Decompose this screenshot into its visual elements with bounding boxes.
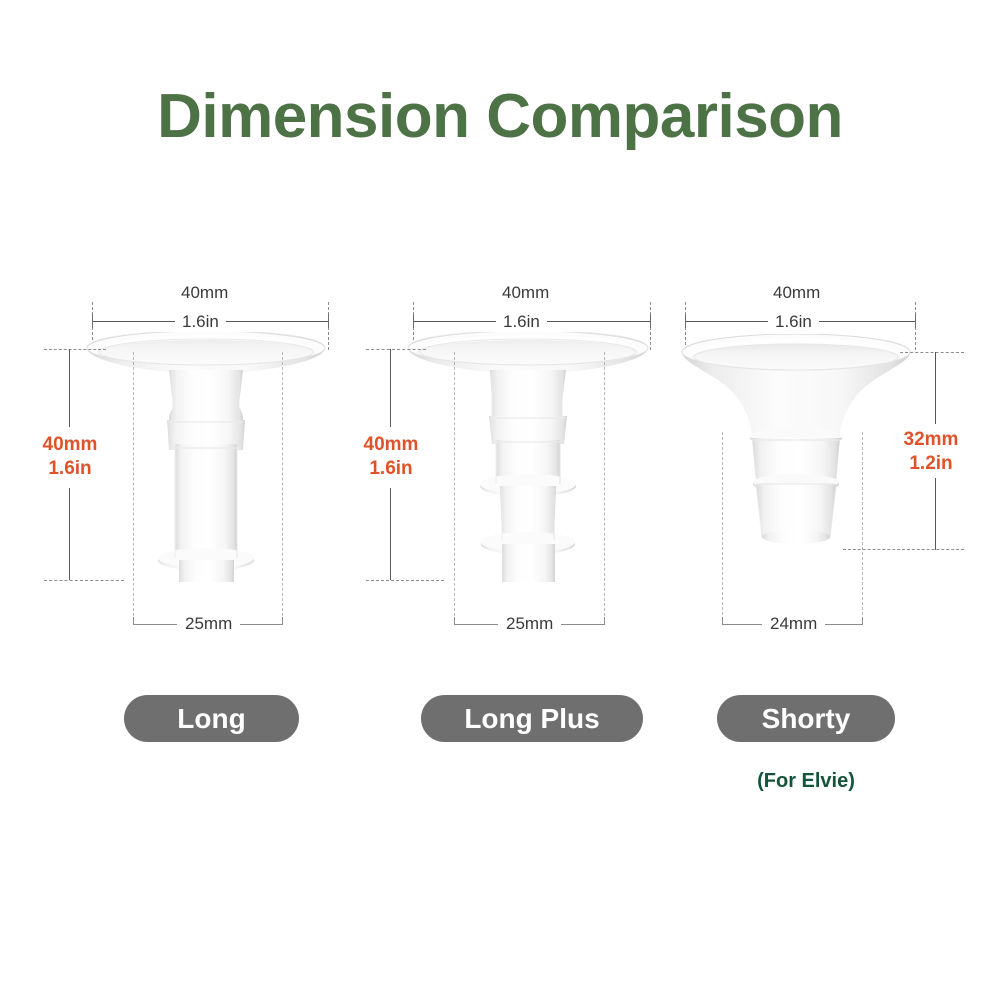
long-bottom-width-mm: 25mm	[177, 615, 240, 632]
long-top-cap-right	[328, 314, 329, 328]
long-top-cap-left	[92, 314, 93, 328]
shorty-height-ext-top	[900, 352, 964, 353]
longplus-height-line-lower	[390, 488, 391, 580]
shorty-bottom-cap-left	[722, 617, 723, 625]
longplus-bottom-width-mm: 25mm	[498, 615, 561, 632]
shorty-bottom-width-mm: 24mm	[762, 615, 825, 632]
longplus-top-cap-left	[413, 314, 414, 328]
longplus-bottom-ext-left	[454, 352, 455, 616]
longplus-height-mm: 40mm	[364, 434, 419, 455]
shorty-top-cap-left	[685, 314, 686, 328]
longplus-height-label: 40mm 1.6in	[355, 433, 427, 481]
shorty-height-line-upper	[935, 352, 936, 424]
longplus-bottom-ext-right	[604, 352, 605, 616]
longplus-top-width-in: 1.6in	[496, 313, 547, 330]
shorty-bottom-ext-left	[722, 432, 723, 620]
long-height-mm: 40mm	[43, 434, 98, 455]
longplus-top-cap-right	[650, 314, 651, 328]
long-height-ext-bottom	[44, 580, 124, 581]
longplus-bottom-cap-right	[604, 617, 605, 625]
long-top-width-in: 1.6in	[175, 313, 226, 330]
longplus-height-ext-bottom	[366, 580, 444, 581]
longplus-height-ext-top	[366, 349, 426, 350]
shorty-top-width-mm: 40mm	[773, 284, 820, 301]
longplus-bottom-cap-left	[454, 617, 455, 625]
shorty-top-cap-right	[915, 314, 916, 328]
long-bottom-cap-right	[282, 617, 283, 625]
shorty-bottom-ext-right	[862, 432, 863, 620]
shorty-top-width-in: 1.6in	[768, 313, 819, 330]
longplus-height-in: 1.6in	[369, 458, 412, 479]
shorty-height-mm: 32mm	[904, 429, 959, 450]
product-image-long-plus	[404, 332, 656, 582]
long-top-width-mm: 40mm	[181, 284, 228, 301]
long-height-in: 1.6in	[48, 458, 91, 479]
shorty-bottom-cap-right	[862, 617, 863, 625]
infographic-page: Dimension Comparison 40mm 1.6in	[0, 0, 1000, 1000]
longplus-top-width-mm: 40mm	[502, 284, 549, 301]
badge-long-plus[interactable]: Long Plus	[421, 695, 643, 742]
long-bottom-cap-left	[133, 617, 134, 625]
product-image-long	[83, 332, 333, 582]
long-height-ext-top	[44, 349, 106, 350]
long-bottom-ext-left	[133, 352, 134, 616]
badge-shorty[interactable]: Shorty	[717, 695, 895, 742]
shorty-height-in: 1.2in	[909, 453, 952, 474]
long-height-line-upper	[69, 349, 70, 427]
page-title: Dimension Comparison	[0, 86, 1000, 148]
shorty-height-label: 32mm 1.2in	[895, 428, 967, 476]
long-height-line-lower	[69, 488, 70, 580]
long-height-label: 40mm 1.6in	[34, 433, 106, 481]
long-bottom-ext-right	[282, 352, 283, 616]
badge-long[interactable]: Long	[124, 695, 299, 742]
product-image-shorty	[678, 334, 922, 554]
shorty-height-line-lower	[935, 478, 936, 550]
longplus-height-line-upper	[390, 349, 391, 427]
shorty-sub-note: (For Elvie)	[717, 770, 895, 793]
